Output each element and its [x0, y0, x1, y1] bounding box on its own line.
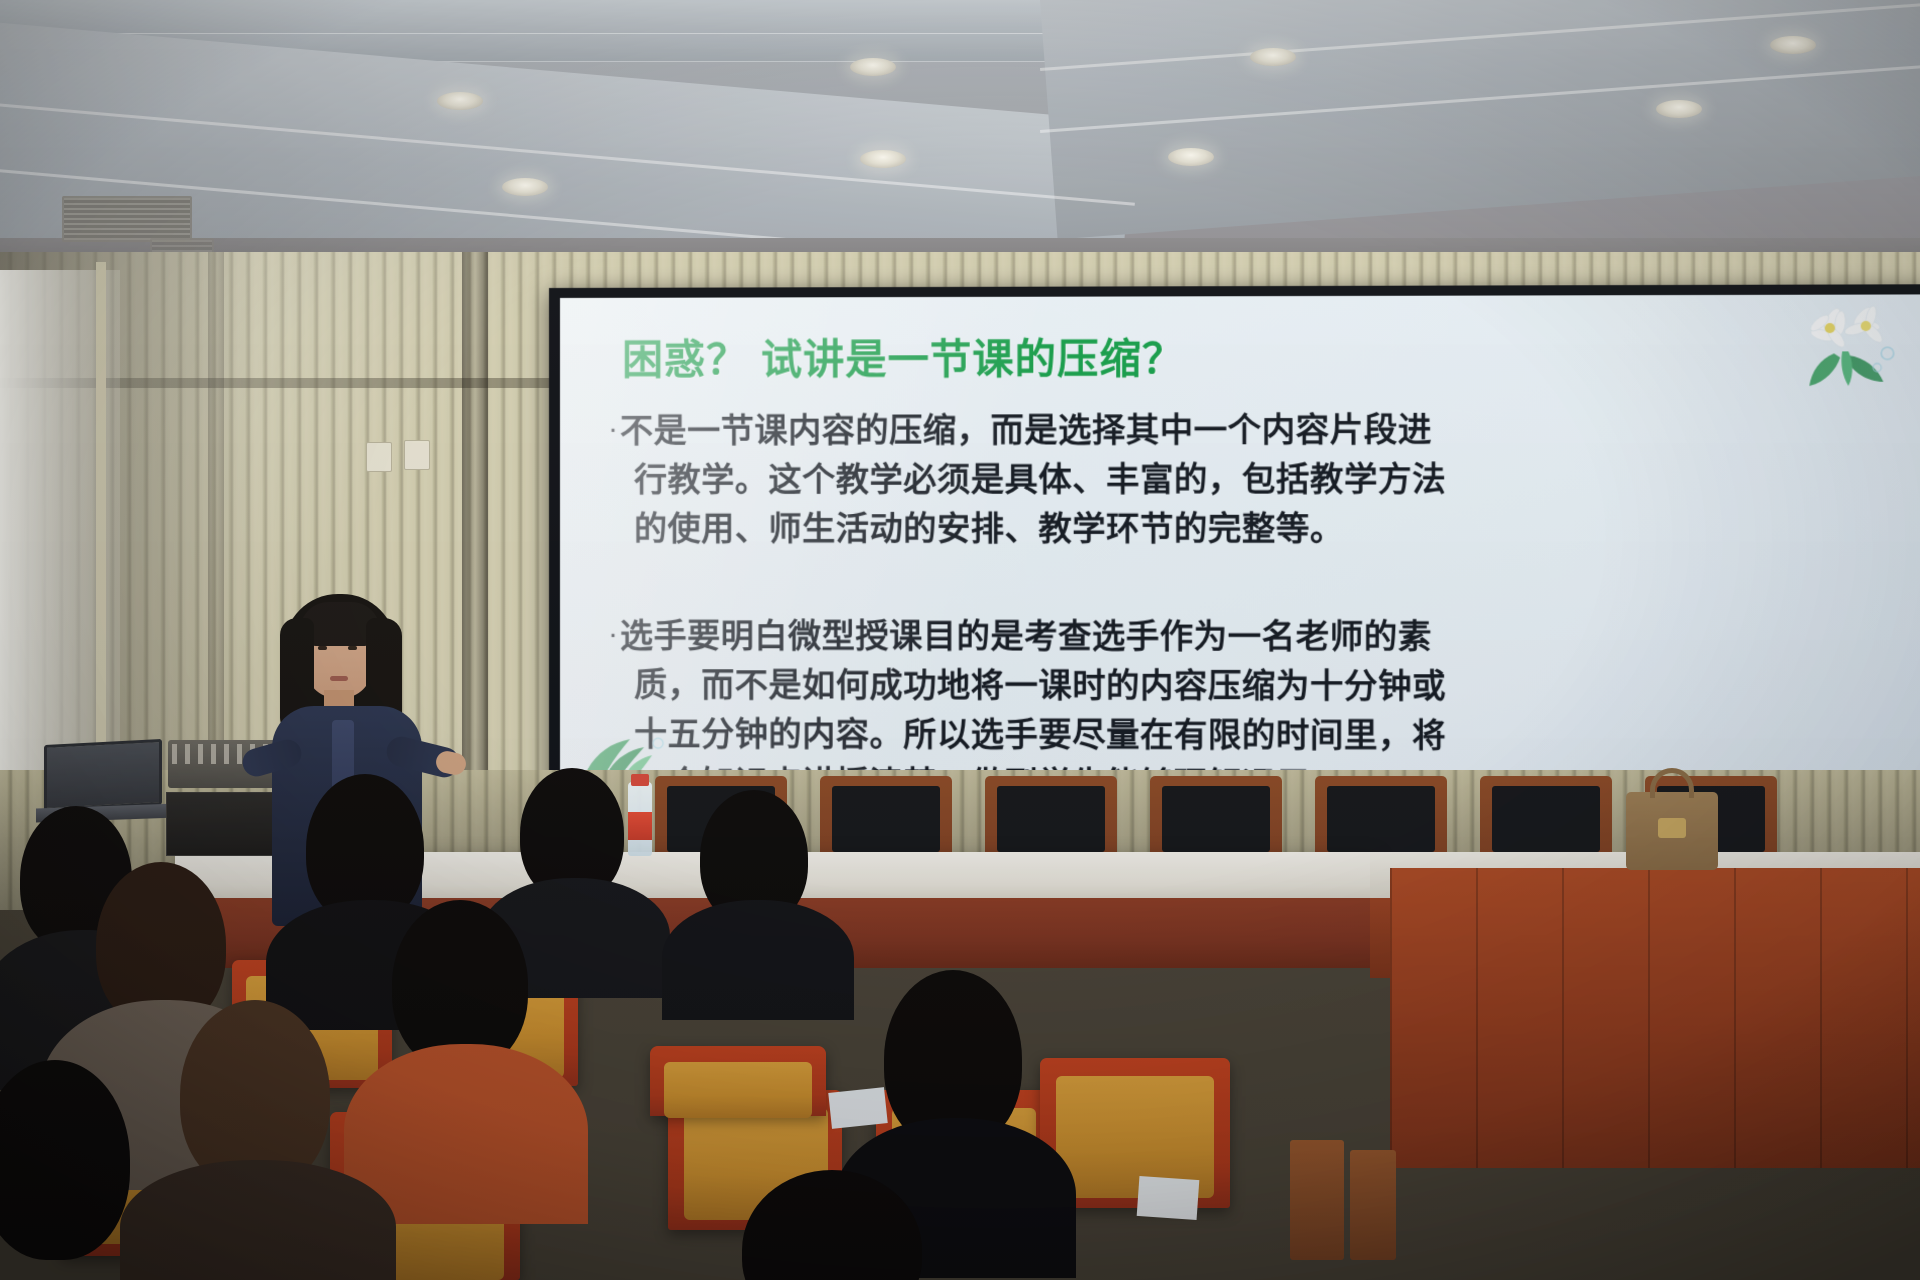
- downlight-icon: [850, 58, 896, 76]
- downlight-icon: [1656, 100, 1702, 118]
- bullet-marker-icon: ·: [608, 406, 618, 452]
- wall-socket[interactable]: [404, 440, 430, 470]
- bullet-line: 行教学。这个教学必须是具体、丰富的，包括教学方法: [620, 454, 1900, 504]
- downlight-icon: [1770, 36, 1816, 54]
- presenter-eye: [348, 646, 357, 650]
- bullet-line: 质，而不是如何成功地将一课时的内容压缩为十分钟或: [620, 660, 1900, 711]
- downlight-icon: [437, 92, 483, 110]
- conference-chair-back: [832, 786, 940, 852]
- downlight-icon: [502, 178, 548, 196]
- bullet-line: 选手要明白微型授课目的是考查选手作为一名老师的素: [620, 611, 1900, 662]
- bullet-line: 十五分钟的内容。所以选手要尽量在有限的时间里，将: [620, 709, 1900, 761]
- paper-sheet: [1137, 1176, 1200, 1220]
- presenter-eye: [318, 646, 327, 650]
- hvac-grille-icon: [62, 196, 192, 242]
- slide-bullet: · 选手要明白微型授课目的是考查选手作为一名老师的素 质，而不是如何成功地将一课…: [608, 611, 1900, 787]
- conference-chair-back: [1327, 786, 1435, 852]
- bottle-cap: [631, 774, 649, 786]
- bullet-line: 不是一节课内容的压缩，而是选择其中一个内容片段进: [620, 404, 1900, 455]
- paper-sheet: [828, 1087, 887, 1129]
- downlight-icon: [860, 150, 906, 168]
- projection-screen[interactable]: 困惑？ 试讲是一节课的压缩？ · 不是一节课内容的压缩，而是选择其中一个内容片段…: [549, 284, 1920, 795]
- auditorium-seat-pad: [664, 1062, 812, 1118]
- bottle-label: [628, 812, 652, 840]
- seat-armrest: [1350, 1150, 1396, 1260]
- bullet-line: 的使用、师生活动的安排、教学环节的完整等。: [620, 503, 1900, 553]
- laptop-screen[interactable]: [44, 739, 162, 811]
- conference-chair-back: [997, 786, 1105, 852]
- bullet-marker-icon: ·: [608, 611, 618, 657]
- conference-chair-back: [1162, 786, 1270, 852]
- wall-socket[interactable]: [366, 442, 392, 472]
- audience-shoulders: [662, 900, 854, 1020]
- bullet-lines: 不是一节课内容的压缩，而是选择其中一个内容片段进 行教学。这个教学必须是具体、丰…: [620, 404, 1900, 553]
- slide-bullet: · 不是一节课内容的压缩，而是选择其中一个内容片段进 行教学。这个教学必须是具体…: [608, 404, 1900, 553]
- daisy-flower-icon: [1789, 301, 1902, 388]
- conference-chair-back: [1492, 786, 1600, 852]
- bullet-lines: 选手要明白微型授课目的是考查选手作为一名老师的素 质，而不是如何成功地将一课时的…: [620, 611, 1900, 787]
- slide-body: · 不是一节课内容的压缩，而是选择其中一个内容片段进 行教学。这个教学必须是具体…: [608, 404, 1900, 787]
- handbag-clasp-icon: [1658, 818, 1686, 838]
- slide-canvas: 困惑？ 试讲是一节课的压缩？ · 不是一节课内容的压缩，而是选择其中一个内容片段…: [560, 294, 1920, 786]
- audience-shoulders: [120, 1160, 396, 1280]
- presenter-mouth: [330, 676, 348, 681]
- lecture-hall-scene: 困惑？ 试讲是一节课的压缩？ · 不是一节课内容的压缩，而是选择其中一个内容片段…: [0, 0, 1920, 1280]
- seat-armrest: [1290, 1140, 1344, 1260]
- slide-title: 困惑？ 试讲是一节课的压缩？: [622, 325, 1184, 386]
- rear-wood-panel-seams: [1390, 868, 1920, 1168]
- downlight-icon: [1168, 148, 1214, 166]
- downlight-icon: [1250, 48, 1296, 66]
